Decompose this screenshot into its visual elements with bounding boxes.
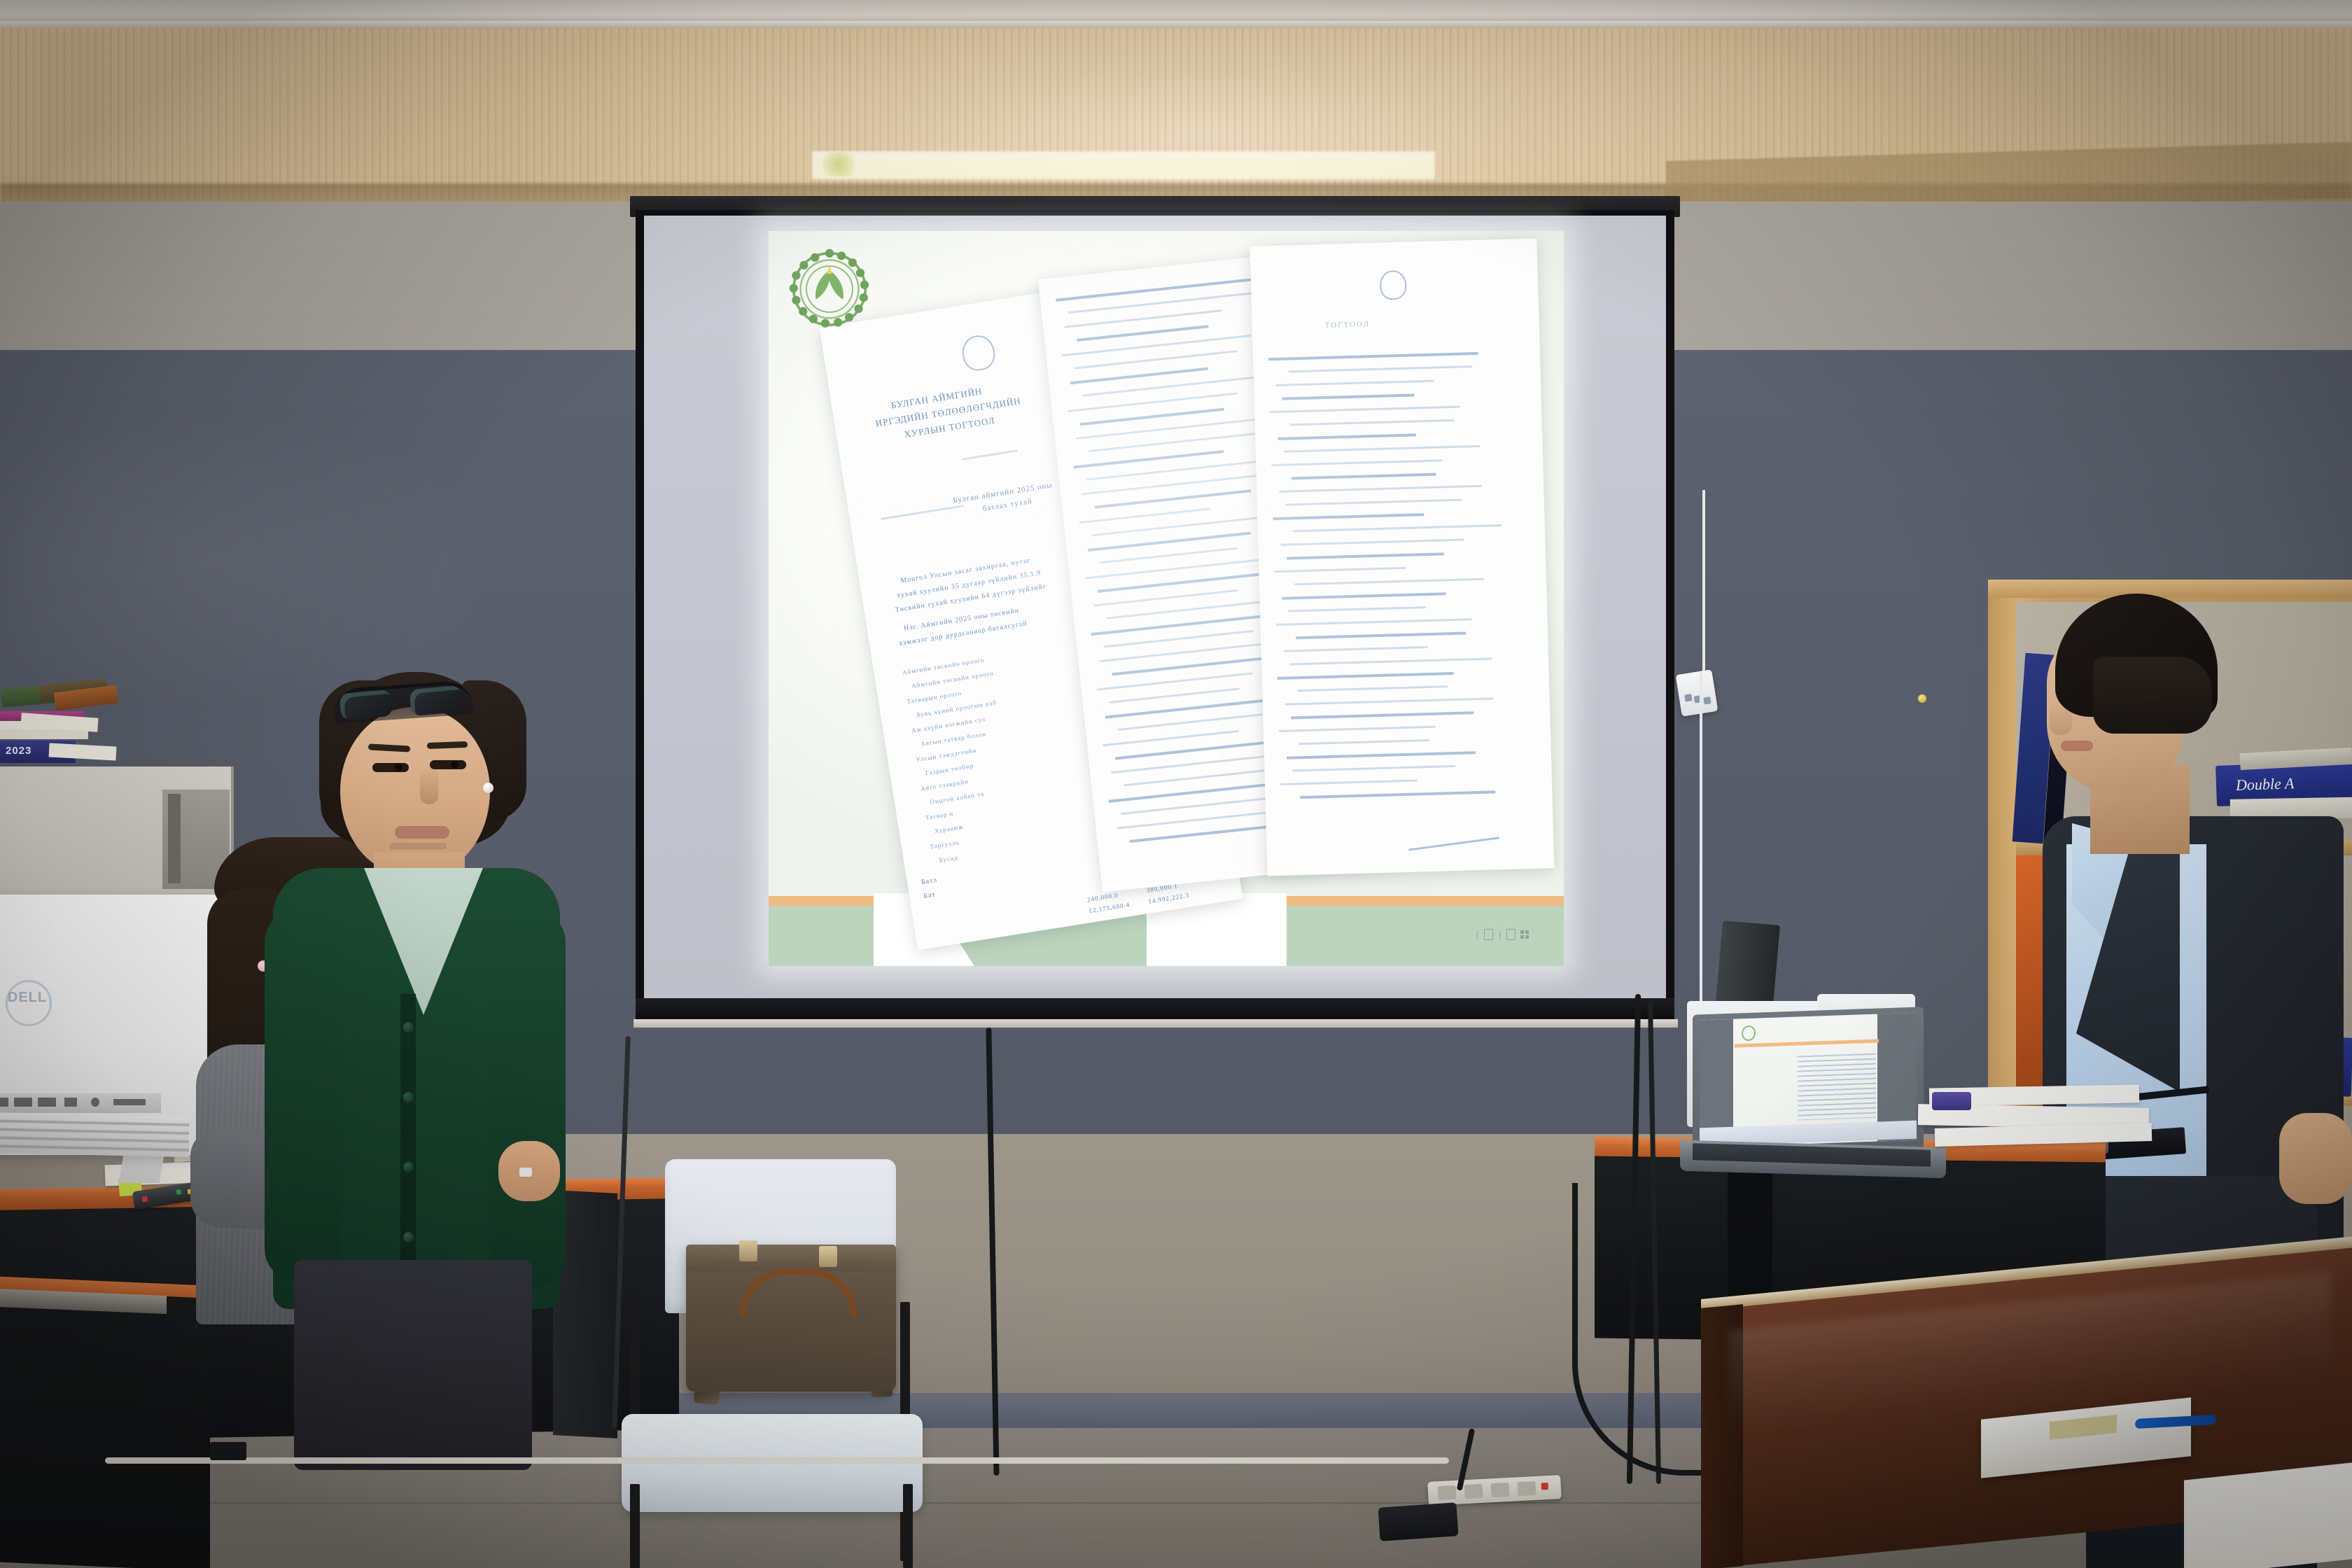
doc-text-line (1288, 606, 1426, 612)
controller-button-1[interactable] (1684, 694, 1692, 701)
doc-text-line (1277, 672, 1454, 680)
doc-text-line (1094, 489, 1251, 508)
doc-text-line (1282, 592, 1446, 600)
projector-light-spill (812, 151, 1435, 179)
doc-table-row: Автын татвар болон (920, 730, 987, 748)
doc-text-line (1290, 419, 1455, 426)
yellow-pushpin (1918, 694, 1926, 703)
double-a-label: Double A (2236, 774, 2295, 794)
doc-table-row: Хураамж (934, 823, 964, 834)
doc-text-line (1297, 685, 1448, 692)
doc-text-line (1117, 811, 1266, 829)
cabinet-handle[interactable] (168, 794, 181, 883)
doc-text-line (1273, 513, 1424, 520)
doc-text-line (1280, 780, 1417, 785)
standing-woman-ring (519, 1168, 532, 1177)
monitor-port-strip (0, 1093, 161, 1113)
laptop-slide-emblem-icon (1742, 1025, 1756, 1042)
wall-cable-upper (1702, 490, 1705, 679)
doc-text-line (1276, 380, 1434, 386)
doc-text-line (1279, 485, 1482, 493)
doc-text-line (1291, 711, 1473, 719)
doc-table-row: Газрын төлбөр (925, 762, 974, 777)
doc-text-line (1070, 367, 1208, 385)
standing-woman-earring (483, 783, 493, 793)
doc-text-line (1276, 618, 1472, 626)
handbag-clasp-right (819, 1246, 837, 1267)
white-floor-cable (105, 1457, 1449, 1464)
doc-text-line (1298, 739, 1429, 745)
secondary-desk-front (0, 1289, 210, 1568)
doc-text-line (1100, 547, 1238, 564)
doc-text-line (1291, 473, 1436, 480)
power-strip-switch[interactable] (1541, 1483, 1549, 1490)
document-emblem-icon (960, 333, 997, 373)
projector-spill-emblem (818, 153, 860, 176)
conference-room-photo: БУЛГАН АЙМГИЙН ИРГЭДИЙН ТӨЛӨӨЛӨГЧДИЙН ХУ… (0, 0, 2352, 1568)
shelf-binder-orange (2016, 855, 2045, 1086)
doc-text-line (1284, 646, 1428, 652)
doc-text-line (1288, 365, 1472, 372)
doc-text-line (1294, 578, 1484, 586)
standing-woman-arm-left (265, 910, 342, 1281)
dell-brand-label: DELL (3, 990, 52, 1006)
doc-table-row: Онцгой албан та (930, 790, 985, 806)
doc-table-rows: Аймгийн төсвийн орлогоАймгийн төсвийн ор… (902, 640, 1081, 669)
doc-table-row: Улсын тэмдэгтийн (916, 747, 977, 764)
doc-text-line (1292, 765, 1455, 772)
standing-woman-nose (420, 766, 438, 804)
doc-right-lines (1268, 351, 1527, 358)
doc-text-line (1285, 499, 1462, 506)
doc-total-value: 12,175,600.4 (1088, 901, 1130, 914)
paper-on-table (2184, 1462, 2352, 1568)
doc-text-line (1289, 657, 1492, 665)
menu-icon[interactable] (1520, 930, 1529, 939)
doc-text-line (1277, 433, 1416, 440)
doc-right-header: ТОГТООЛ (1325, 320, 1371, 330)
next-slide-icon[interactable]: ⟩ (1498, 930, 1501, 939)
doc-text-line (1271, 459, 1442, 466)
wall-cable-lower (1700, 672, 1702, 1001)
doc-text-line (1282, 393, 1415, 400)
doc-text-line (1287, 552, 1444, 559)
man-hand (2279, 1113, 2352, 1204)
book-stack: 2023 (0, 672, 126, 770)
doc-text-line (1280, 539, 1464, 546)
handbag-top-trim (686, 1245, 896, 1271)
doc-text-line (1102, 730, 1239, 746)
doc-text-line (1287, 751, 1476, 759)
doc-text-line (1056, 276, 1265, 301)
power-adapter-brick (1378, 1502, 1458, 1541)
doc-text-line (1123, 769, 1266, 786)
doc-text-line (1268, 352, 1478, 360)
doc-table-row: Торгууль (930, 839, 960, 850)
doc-text-line (1274, 567, 1406, 573)
doc-total-value: 240,000.0 (1086, 892, 1119, 904)
sunglass-lens-left (339, 689, 393, 720)
doc-text-line (1296, 632, 1466, 640)
pointer-icon[interactable] (1506, 929, 1515, 940)
keyboard[interactable] (0, 1112, 189, 1157)
bookshelf-top (1988, 580, 2352, 598)
screen-controller-box[interactable] (1676, 669, 1718, 716)
doc-text-line (1079, 507, 1210, 524)
slide-number-icon[interactable] (1484, 929, 1493, 940)
prev-slide-icon[interactable]: ⟨ (1476, 930, 1479, 939)
handbag-clasp-left (739, 1240, 757, 1261)
doc-signature (1404, 802, 1499, 851)
slide-content: БУЛГАН АЙМГИЙН ИРГЭДИЙН ТӨЛӨӨЛӨГЧДИЙН ХУ… (769, 231, 1564, 966)
doc-text-line (1103, 630, 1253, 647)
doc-text-line (1284, 445, 1480, 453)
slide-document-sheet-right: ТОГТООЛ (1250, 238, 1555, 876)
document-emblem-icon-right (1380, 270, 1407, 300)
purple-stapler[interactable] (1932, 1092, 1971, 1110)
doc-text-line (1285, 697, 1494, 705)
doc-text-line (1080, 408, 1224, 426)
doc-text-line (1279, 726, 1436, 732)
doc-table-row: Авто тээврийн (920, 778, 969, 792)
doc-total-value: 14,992,222.3 (1148, 892, 1190, 905)
doc-text-line (1097, 672, 1253, 690)
doc-table-row: Татвар н (925, 810, 954, 821)
standing-woman-arm-right (490, 910, 566, 1288)
doc-subtitle-line2: батлах тухай (982, 497, 1033, 513)
bulgan-aimag-emblem-icon (787, 246, 872, 332)
doc-text-line (1270, 406, 1460, 414)
wall-plug (210, 1442, 246, 1460)
standing-woman-trousers (294, 1260, 532, 1470)
controller-button-3[interactable] (1703, 696, 1711, 704)
doc-table-row: Бусад (939, 854, 958, 864)
standing-woman-face (340, 707, 490, 874)
presentation-controls[interactable]: ⟨ ⟩ (1476, 925, 1564, 944)
doc-text-line (1300, 790, 1495, 799)
archive-box-label: 2023 (6, 745, 31, 757)
projection-screen-lower-lip (633, 1019, 1678, 1028)
man-hair-fade (2093, 657, 2212, 734)
doc-table-row: Татварын орлого (906, 689, 962, 705)
doc-text-line (1077, 325, 1208, 342)
doc-text-line (1293, 524, 1502, 532)
doc-text-line (1074, 350, 1238, 370)
chair-leg-front-right (903, 1484, 913, 1568)
sunglass-lens-right (409, 685, 463, 716)
doc-text-line (1109, 687, 1240, 703)
doc-text-line (1093, 589, 1237, 607)
chair-leg-front-left (630, 1484, 640, 1568)
projection-screen-weight-bar (636, 998, 1674, 1022)
